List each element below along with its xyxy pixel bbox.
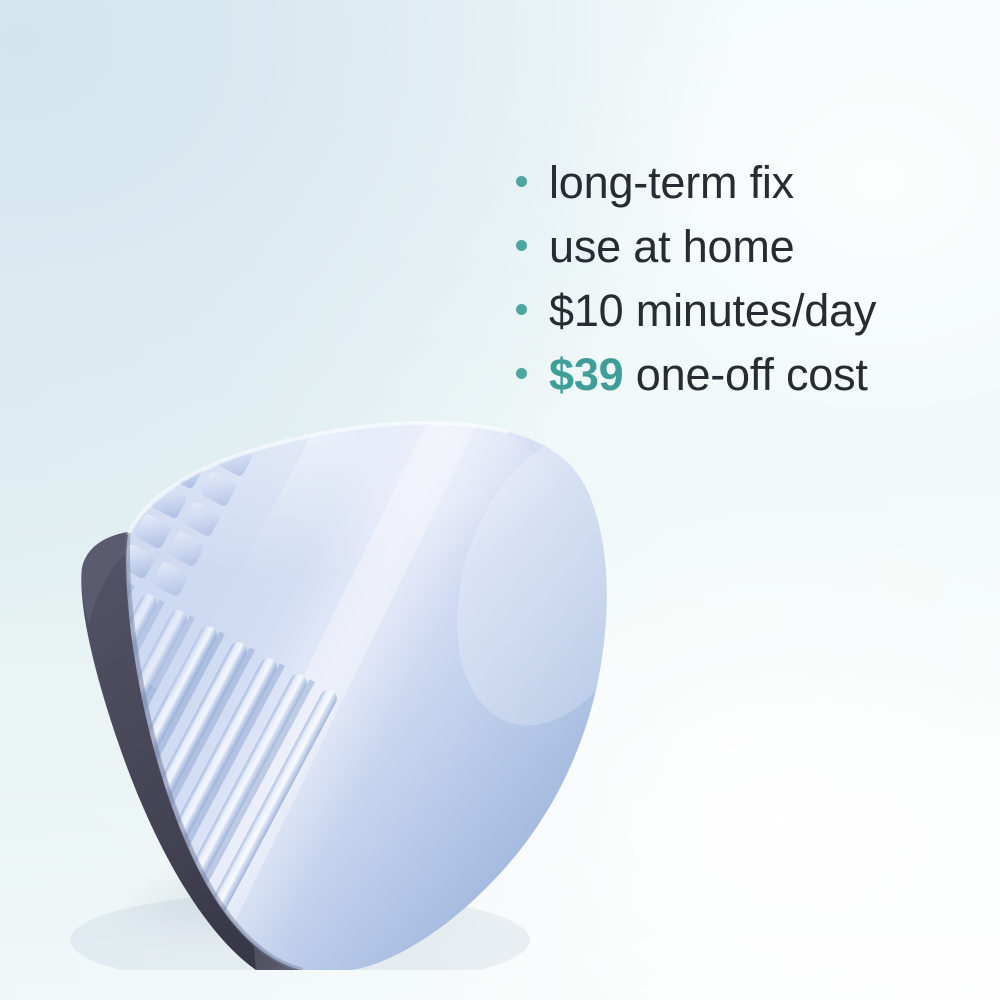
list-item: $39 one-off cost xyxy=(516,352,986,416)
product-illustration xyxy=(0,370,700,970)
list-item: use at home xyxy=(516,224,986,288)
bullet-text-1: long-term fix xyxy=(549,160,794,205)
bullet-text-3: $10 minutes/day xyxy=(549,288,876,333)
bullet-text-4: $39 one-off cost xyxy=(549,352,868,397)
ad-canvas: long-term fix use at home $10 minutes/da… xyxy=(0,0,1000,1000)
bullet-dot-icon xyxy=(516,304,527,315)
product-image xyxy=(0,370,700,970)
bullet-text-2: use at home xyxy=(549,224,794,269)
bullet-dot-icon xyxy=(516,176,527,187)
bullet-dot-icon xyxy=(516,240,527,251)
feature-bullet-list: long-term fix use at home $10 minutes/da… xyxy=(516,160,986,416)
price-highlight: $39 xyxy=(549,349,623,400)
bullet-text-4-rest: one-off cost xyxy=(623,349,867,400)
list-item: long-term fix xyxy=(516,160,986,224)
list-item: $10 minutes/day xyxy=(516,288,986,352)
bullet-dot-icon xyxy=(516,368,527,379)
